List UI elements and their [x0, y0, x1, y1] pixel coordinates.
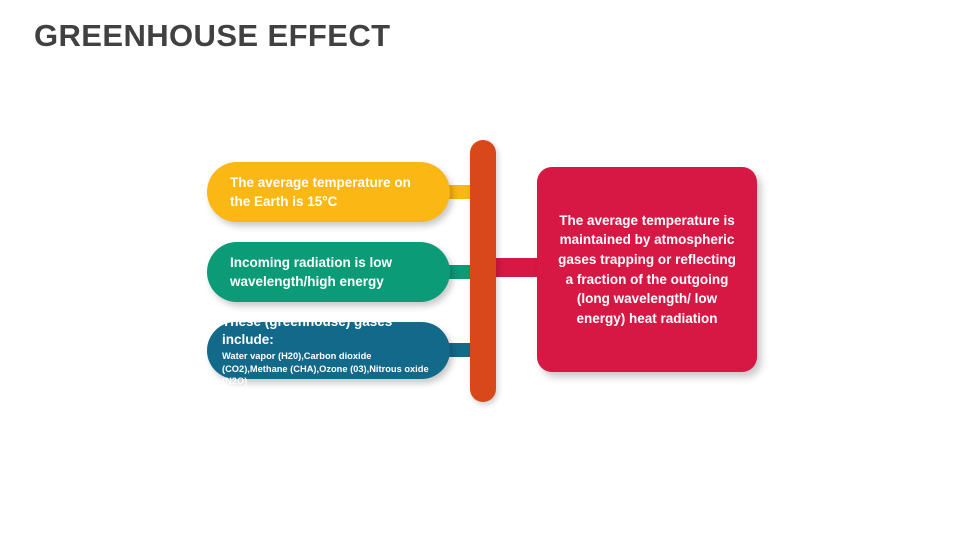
node-average-temperature-label: The average temperature on the Earth is …	[230, 173, 430, 211]
node-incoming-radiation[interactable]: Incoming radiation is low wavelength/hig…	[207, 242, 450, 302]
node-summary[interactable]: The average temperature is maintained by…	[537, 167, 757, 372]
center-bar[interactable]	[470, 140, 496, 402]
greenhouse-effect-diagram: The average temperature on the Earth is …	[0, 0, 960, 540]
node-summary-label: The average temperature is maintained by…	[555, 211, 739, 328]
node-greenhouse-gases-heading: These (greenhouse) gases include:	[222, 313, 436, 348]
slide-canvas: GREENHOUSE EFFECT The average temperatur…	[0, 0, 960, 540]
node-greenhouse-gases-list: Water vapor (H20),Carbon dioxide (CO2),M…	[222, 350, 436, 388]
node-average-temperature[interactable]: The average temperature on the Earth is …	[207, 162, 450, 222]
node-incoming-radiation-label: Incoming radiation is low wavelength/hig…	[230, 253, 430, 291]
node-greenhouse-gases[interactable]: These (greenhouse) gases include: Water …	[207, 322, 450, 379]
